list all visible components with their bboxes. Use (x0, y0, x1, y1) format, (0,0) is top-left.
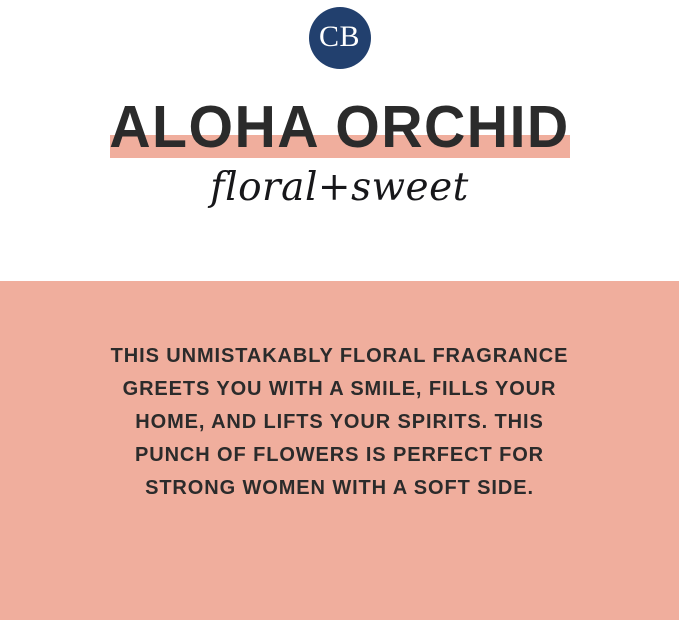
description-line: HOME, AND LIFTS YOUR SPIRITS. THIS (0, 406, 679, 439)
description-panel: THIS UNMISTAKABLY FLORAL FRAGRANCE GREET… (0, 281, 679, 620)
description-line: PUNCH OF FLOWERS IS PERFECT FOR (0, 439, 679, 472)
description-line: THIS UNMISTAKABLY FLORAL FRAGRANCE (0, 340, 679, 373)
scent-tagline: floral+sweet (0, 162, 679, 214)
product-title: ALOHA ORCHID (10, 96, 669, 158)
header-section: CB ALOHA ORCHID floral+sweet (0, 0, 679, 281)
brand-monogram-text: CB (319, 22, 360, 52)
brand-logo-circle: CB (309, 7, 371, 69)
brand-logo: CB (0, 7, 679, 69)
product-title-block: ALOHA ORCHID (0, 96, 679, 162)
description-text-block: THIS UNMISTAKABLY FLORAL FRAGRANCE GREET… (0, 340, 679, 505)
fragrance-product-card: CB ALOHA ORCHID floral+sweet THIS UNMIST… (0, 0, 679, 620)
description-line: GREETS YOU WITH A SMILE, FILLS YOUR (0, 373, 679, 406)
description-line: STRONG WOMEN WITH A SOFT SIDE. (0, 472, 679, 505)
